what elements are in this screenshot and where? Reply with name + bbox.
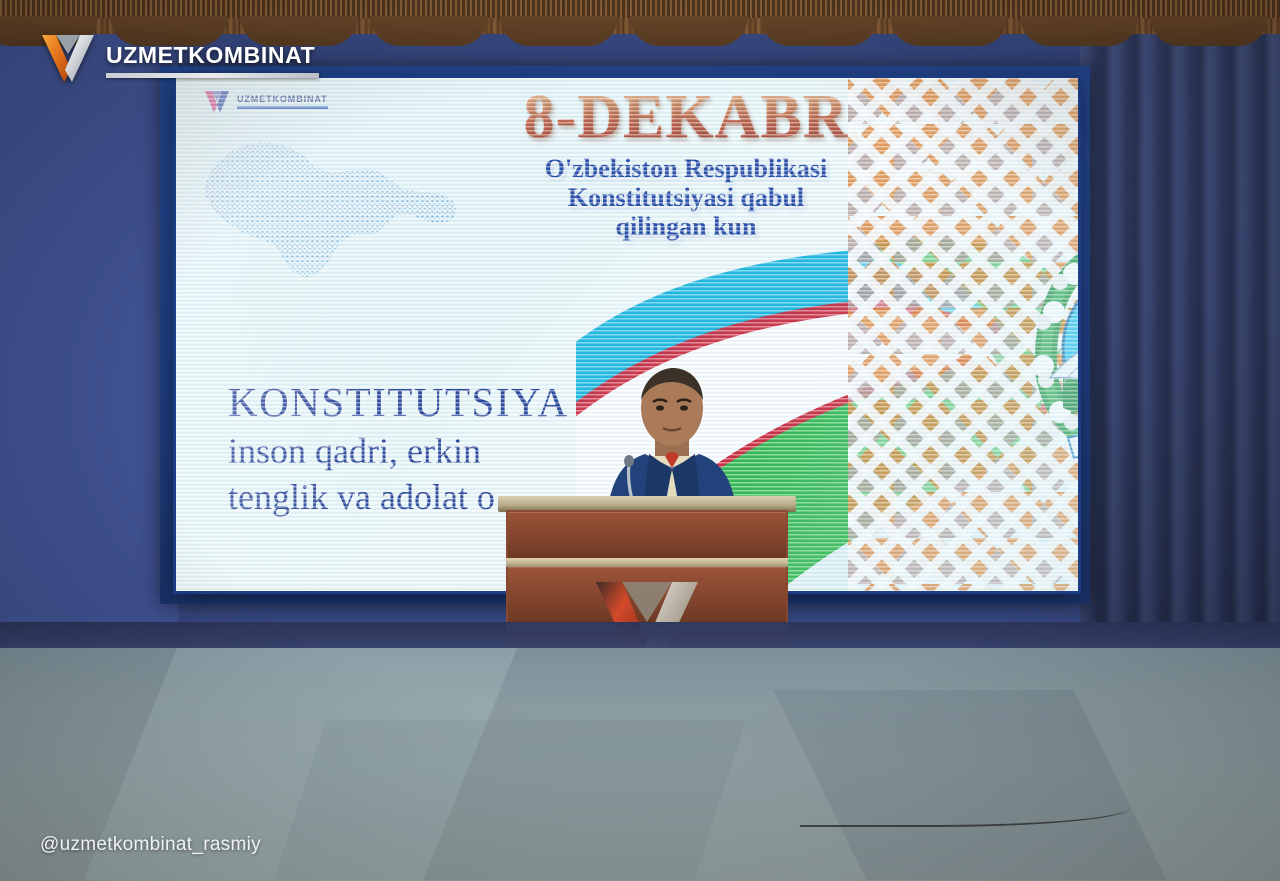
slide-logo: UZMETKOMBINAT [204,90,328,114]
curtain-right-panel [1080,0,1280,700]
slide-date-title: 8-DEKABR [476,86,896,148]
slide-logo-text: UZMETKOMBINAT [237,95,328,105]
uzmetkombinat-v-logo-icon [204,90,230,114]
brand-name-text: UZMETKOMBINAT [106,42,319,69]
brand-underline [106,73,319,78]
uzbekistan-coat-of-arms-icon: O'ZBEKISTON [1016,226,1078,481]
slide-subtitle-line-1: O'zbekiston Respublikasi [476,154,896,183]
slide-headline: 8-DEKABR O'zbekiston Respublikasi Konsti… [476,86,896,241]
slide-logo-bar [237,106,328,109]
curtain-left-panel [0,0,178,700]
slide-subtitle-line-2: Konstitutsiyasi qabul [476,183,896,212]
uzmetkombinat-v-logo-icon [40,32,96,82]
watermark-handle: @uzmetkombinat_rasmiy [40,834,261,856]
brand-overlay: UZMETKOMBINAT [40,32,319,82]
photo-stage: UZMETKOMBINAT 8-DEKABR O'zbekiston Respu… [0,0,1280,881]
uzbekistan-map-outline-icon [196,120,486,305]
